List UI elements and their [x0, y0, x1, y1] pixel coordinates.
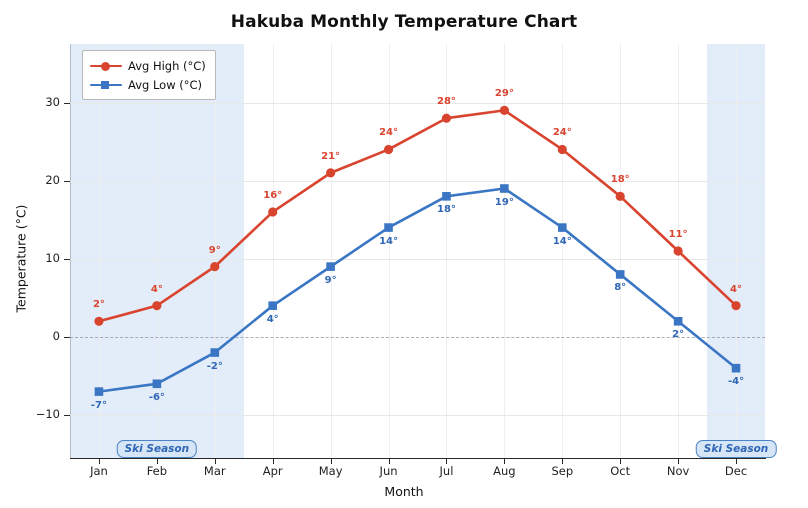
ski-season-label: Ski Season	[696, 440, 777, 458]
y-tick-label: 30	[45, 95, 60, 109]
data-point-marker[interactable]	[268, 207, 277, 216]
data-point-marker[interactable]	[500, 184, 509, 193]
point-value-label: 4°	[267, 314, 279, 325]
data-point-marker[interactable]	[152, 301, 161, 310]
x-tick-label-oct: Oct	[610, 464, 630, 478]
point-value-label: 14°	[553, 236, 572, 247]
series-lines	[70, 44, 765, 458]
point-value-label: 16°	[263, 190, 282, 201]
x-tick-label-jul: Jul	[440, 464, 454, 478]
y-tick-mark	[64, 181, 70, 182]
data-point-marker[interactable]	[558, 145, 567, 154]
point-value-label: 4°	[730, 284, 742, 295]
x-axis-label: Month	[0, 484, 808, 499]
point-value-label: 24°	[379, 127, 398, 138]
plot-area: 2°4°9°16°21°24°28°29°24°18°11°4°-7°-6°-2…	[70, 44, 765, 458]
data-point-marker[interactable]	[442, 192, 451, 201]
point-value-label: 8°	[614, 282, 626, 293]
data-point-marker[interactable]	[674, 246, 683, 255]
point-value-label: 9°	[325, 275, 337, 286]
y-tick-label: 0	[53, 329, 60, 343]
x-tick-label-mar: Mar	[204, 464, 226, 478]
legend-item-avg-high[interactable]: Avg High (°C)	[90, 56, 206, 75]
chart-figure: Hakuba Monthly Temperature Chart 2°4°9°1…	[0, 0, 808, 508]
y-tick-label: −10	[36, 407, 60, 421]
data-point-marker[interactable]	[616, 192, 625, 201]
ski-season-label: Ski Season	[117, 440, 198, 458]
y-tick-label: 10	[45, 251, 60, 265]
data-point-marker[interactable]	[674, 317, 683, 326]
y-tick-label: 20	[45, 173, 60, 187]
x-tick-label-may: May	[319, 464, 343, 478]
data-point-marker[interactable]	[616, 270, 625, 279]
point-value-label: -4°	[728, 376, 744, 387]
point-value-label: 19°	[495, 197, 514, 208]
y-axis-label: Temperature (°C)	[14, 159, 29, 359]
point-value-label: 9°	[209, 245, 221, 256]
point-value-label: 18°	[437, 204, 456, 215]
point-value-label: -6°	[149, 392, 165, 403]
point-value-label: 14°	[379, 236, 398, 247]
legend-label-avg-low: Avg Low (°C)	[128, 78, 202, 92]
x-tick-label-aug: Aug	[493, 464, 515, 478]
point-value-label: -2°	[207, 361, 223, 372]
legend-item-avg-low[interactable]: Avg Low (°C)	[90, 75, 206, 94]
point-value-label: 2°	[93, 299, 105, 310]
point-value-label: 18°	[611, 174, 630, 185]
legend-swatch-square-icon	[90, 78, 122, 92]
series-line-avg-low	[99, 189, 736, 392]
data-point-marker[interactable]	[153, 379, 162, 388]
data-point-marker[interactable]	[384, 145, 393, 154]
data-point-marker[interactable]	[94, 317, 103, 326]
point-value-label: 21°	[321, 151, 340, 162]
legend-label-avg-high: Avg High (°C)	[128, 59, 206, 73]
chart-legend[interactable]: Avg High (°C) Avg Low (°C)	[82, 50, 216, 100]
point-value-label: 29°	[495, 88, 514, 99]
data-point-marker[interactable]	[732, 364, 741, 373]
data-point-marker[interactable]	[95, 387, 104, 396]
y-tick-mark	[64, 337, 70, 338]
x-tick-label-jan: Jan	[90, 464, 108, 478]
point-value-label: 24°	[553, 127, 572, 138]
x-tick-label-sep: Sep	[551, 464, 573, 478]
data-point-marker[interactable]	[731, 301, 740, 310]
point-value-label: 4°	[151, 284, 163, 295]
data-point-marker[interactable]	[268, 301, 277, 310]
chart-title: Hakuba Monthly Temperature Chart	[0, 12, 808, 32]
point-value-label: 2°	[672, 329, 684, 340]
x-tick-label-feb: Feb	[147, 464, 167, 478]
y-tick-mark	[64, 415, 70, 416]
data-point-marker[interactable]	[326, 168, 335, 177]
x-tick-label-apr: Apr	[263, 464, 283, 478]
legend-swatch-circle-icon	[90, 59, 122, 73]
data-point-marker[interactable]	[442, 114, 451, 123]
data-point-marker[interactable]	[384, 223, 393, 232]
data-point-marker[interactable]	[558, 223, 567, 232]
x-axis-spine	[70, 458, 766, 459]
data-point-marker[interactable]	[500, 106, 509, 115]
y-tick-mark	[64, 259, 70, 260]
y-tick-mark	[64, 103, 70, 104]
x-tick-label-dec: Dec	[725, 464, 747, 478]
x-tick-label-nov: Nov	[667, 464, 689, 478]
data-point-marker[interactable]	[210, 262, 219, 271]
point-value-label: 11°	[669, 229, 688, 240]
x-tick-label-jun: Jun	[380, 464, 398, 478]
data-point-marker[interactable]	[326, 262, 335, 271]
data-point-marker[interactable]	[210, 348, 219, 357]
point-value-label: 28°	[437, 96, 456, 107]
point-value-label: -7°	[91, 400, 107, 411]
